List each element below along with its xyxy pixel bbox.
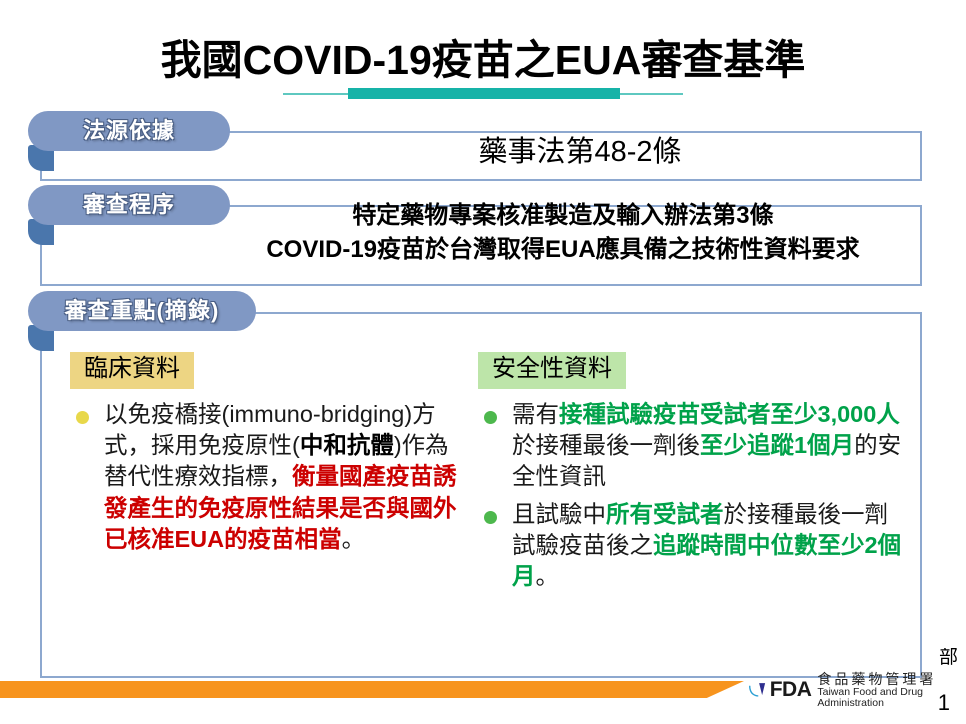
bullet-text-run: 中和抗體 <box>300 432 394 458</box>
bullet-text-run: 至少追蹤1個月 <box>700 432 854 458</box>
clinical-data-label: 臨床資料 <box>70 352 194 389</box>
bullet-text-run: 需有 <box>512 401 559 427</box>
fda-abbrev-text: FDA <box>770 678 812 702</box>
title-underline-accent <box>348 88 620 99</box>
review-process-tab-label: 審查程序 <box>83 194 175 216</box>
clinical-data-column: 臨床資料 以免疫橋接(immuno-bridging)方式，採用免疫原性(中和抗… <box>70 352 470 561</box>
orange-footer-bar <box>0 681 744 698</box>
review-points-tab[interactable]: 審查重點(摘錄) <box>28 291 256 331</box>
fda-chinese-name: 食品藥物管理署 <box>817 672 966 687</box>
bullet-item: 需有接種試驗疫苗受試者至少3,000人於接種最後一劑後至少追蹤1個月的安全性資訊 <box>478 399 908 493</box>
legal-basis-content: 藥事法第48-2條 <box>260 128 900 170</box>
page-title: 我國COVID-19疫苗之EUA審查基準 <box>0 26 966 86</box>
bullet-text-run: 接種試驗疫苗受試者至少3,000人 <box>559 401 900 427</box>
bullet-text-run: 。 <box>342 526 366 552</box>
review-points-tab-label: 審查重點(摘錄) <box>65 300 220 322</box>
review-process-content: 特定藥物專案核准製造及輸入辦法第3條 COVID-19疫苗於台灣取得EUA應具備… <box>210 199 916 267</box>
legal-basis-tab[interactable]: 法源依據 <box>28 111 230 151</box>
legal-basis-tab-label: 法源依據 <box>83 120 175 142</box>
bullet-text-run: 所有受試者 <box>606 501 724 527</box>
fda-logo: FDA 食品藥物管理署 Taiwan Food and Drug Adminis… <box>748 672 966 709</box>
bullet-item: 以免疫橋接(immuno-bridging)方式，採用免疫原性(中和抗體)作為替… <box>70 399 470 555</box>
bullet-text-run: 且試驗中 <box>512 501 606 527</box>
cut-off-text: 部 <box>939 648 958 665</box>
review-process-line-1: 特定藥物專案核准製造及輸入辦法第3條 <box>210 199 916 233</box>
page-number: 1 <box>938 690 950 716</box>
safety-data-bullet-list: 需有接種試驗疫苗受試者至少3,000人於接種最後一劑後至少追蹤1個月的安全性資訊… <box>478 399 908 593</box>
review-process-line-2: COVID-19疫苗於台灣取得EUA應具備之技術性資料要求 <box>210 233 916 267</box>
safety-data-column: 安全性資料 需有接種試驗疫苗受試者至少3,000人於接種最後一劑後至少追蹤1個月… <box>478 352 908 598</box>
bullet-item: 且試驗中所有受試者於接種最後一劑試驗疫苗後之追蹤時間中位數至少2個月。 <box>478 499 908 593</box>
safety-data-label: 安全性資料 <box>478 352 626 389</box>
bullet-text-run: 於接種最後一劑後 <box>512 432 700 458</box>
clinical-data-bullet-list: 以免疫橋接(immuno-bridging)方式，採用免疫原性(中和抗體)作為替… <box>70 399 470 555</box>
review-process-tab[interactable]: 審查程序 <box>28 185 230 225</box>
bullet-text-run: 。 <box>536 563 560 589</box>
